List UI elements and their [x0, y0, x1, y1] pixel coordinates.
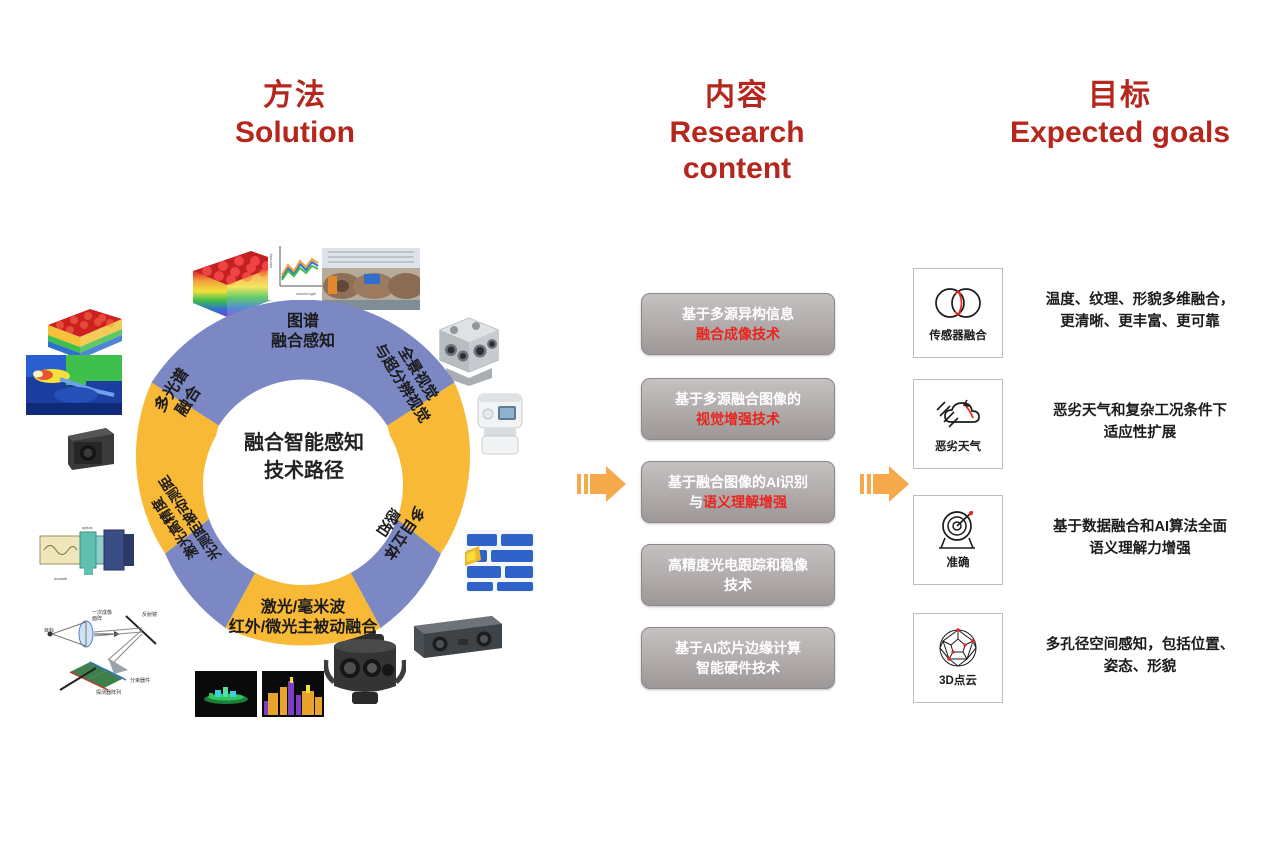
research-box-4-line1: 高精度光电跟踪和稳像: [668, 555, 808, 575]
thumbnail-lidar-point-cloud-b: [262, 671, 324, 717]
goal-text-point-cloud-3d-line2: 姿态、形貌: [1030, 657, 1250, 679]
research-box-4-line2: 技术: [668, 575, 808, 595]
goal-card-sensor-fusion[interactable]: 传感器融合: [913, 268, 1003, 358]
research-box-high-precision-tracking[interactable]: 高精度光电跟踪和稳像 技术: [641, 544, 835, 606]
research-box-5-line1: 基于AI芯片边缘计算: [675, 638, 801, 658]
column-header-solution: 方法 Solution: [170, 78, 420, 151]
arrow-solution-to-content: [572, 462, 630, 511]
research-box-2-line1: 基于多源融合图像的: [675, 389, 801, 409]
arrow-content-to-goals: [855, 462, 913, 511]
goal-text-sensor-fusion: 温度、纹理、形貌多维融合， 更清晰、更丰富、更可靠: [1030, 290, 1250, 334]
research-box-5-line2: 智能硬件技术: [675, 658, 801, 678]
goal-text-point-cloud-3d: 多孔径空间感知，包括位置、 姿态、形貌: [1030, 635, 1250, 679]
rain-cloud-icon: [931, 391, 985, 437]
point-cloud-sphere-icon: [933, 625, 983, 671]
thumbnail-spectral-curve-plot: intensity wavelength: [268, 238, 330, 300]
thumbnail-thermal-image: [26, 355, 122, 415]
goal-card-sensor-fusion-caption: 传感器融合: [929, 327, 987, 343]
goal-text-bad-weather: 恶劣天气和复杂工况条件下 适应性扩展: [1030, 401, 1250, 445]
goal-text-bad-weather-line2: 适应性扩展: [1030, 423, 1250, 445]
goal-text-accuracy-line1: 基于数据融合和AI算法全面: [1030, 517, 1250, 539]
goal-card-point-cloud-3d-caption: 3D点云: [939, 672, 977, 688]
thumbnail-compact-camera: [62, 424, 118, 472]
goal-text-sensor-fusion-line2: 更清晰、更丰富、更可靠: [1030, 312, 1250, 334]
goal-card-accuracy[interactable]: 准确: [913, 495, 1003, 585]
column-header-solution-cn: 方法: [170, 78, 420, 115]
research-box-3-line2: 语义理解增强: [703, 494, 787, 510]
svg-text:wavelength: wavelength: [296, 291, 316, 296]
column-header-content: 内容 Research content: [612, 78, 862, 188]
goal-text-sensor-fusion-line1: 温度、纹理、形貌多维融合，: [1030, 290, 1250, 312]
goal-text-accuracy: 基于数据融合和AI算法全面 语义理解力增强: [1030, 517, 1250, 561]
goal-text-bad-weather-line1: 恶劣天气和复杂工况条件下: [1030, 401, 1250, 423]
donut-center-line2: 技术路径: [264, 460, 344, 482]
column-header-goals-en: Expected goals: [995, 115, 1245, 152]
goal-card-point-cloud-3d[interactable]: 3D点云: [913, 613, 1003, 703]
diagram-canvas: 方法 Solution 内容 Research content 目标 Expec…: [0, 0, 1268, 866]
donut-center-line1: 融合智能感知: [244, 432, 364, 454]
svg-text:optics: optics: [82, 525, 92, 530]
research-box-ai-recognition-semantics[interactable]: 基于融合图像的AI识别 与语义理解增强: [641, 461, 835, 523]
svg-text:intensity: intensity: [268, 253, 273, 268]
goal-card-accuracy-caption: 准确: [947, 554, 970, 570]
target-dart-icon: [931, 507, 985, 553]
research-box-1-line1: 基于多源异构信息: [682, 304, 794, 324]
donut-center-label: 融合智能感知 技术路径: [188, 430, 420, 485]
column-header-goals-cn: 目标: [995, 78, 1245, 115]
research-box-multisource-heterogeneous-fusion-imaging[interactable]: 基于多源异构信息 融合成像技术: [641, 293, 835, 355]
column-header-solution-en: Solution: [170, 115, 420, 152]
thumbnail-lidar-point-cloud-a: [195, 671, 257, 717]
research-box-ai-chip-edge-computing[interactable]: 基于AI芯片边缘计算 智能硬件技术: [641, 627, 835, 689]
research-box-1-line2: 融合成像技术: [682, 324, 794, 344]
svg-text:探测器阵列: 探测器阵列: [96, 689, 121, 696]
svg-text:面阵: 面阵: [92, 615, 102, 622]
svg-text:module: module: [54, 576, 68, 581]
svg-text:分束器件: 分束器件: [130, 677, 150, 684]
research-box-3-line1: 基于融合图像的AI识别: [668, 472, 808, 492]
svg-text:一次成像: 一次成像: [92, 609, 112, 616]
venn-circles-icon: [931, 280, 985, 326]
research-box-visual-enhancement[interactable]: 基于多源融合图像的 视觉增强技术: [641, 378, 835, 440]
column-header-goals: 目标 Expected goals: [995, 78, 1245, 151]
column-header-content-en: Research content: [612, 115, 862, 188]
goal-text-point-cloud-3d-line1: 多孔径空间感知，包括位置、: [1030, 635, 1250, 657]
goal-card-bad-weather-caption: 恶劣天气: [935, 438, 981, 454]
goal-card-bad-weather[interactable]: 恶劣天气: [913, 379, 1003, 469]
research-box-2-line2: 视觉增强技术: [675, 409, 801, 429]
column-header-content-cn: 内容: [612, 78, 862, 115]
research-box-3-line2-prefix: 与: [689, 494, 703, 510]
svg-text:目标: 目标: [44, 627, 54, 634]
goal-text-accuracy-line2: 语义理解力增强: [1030, 539, 1250, 561]
